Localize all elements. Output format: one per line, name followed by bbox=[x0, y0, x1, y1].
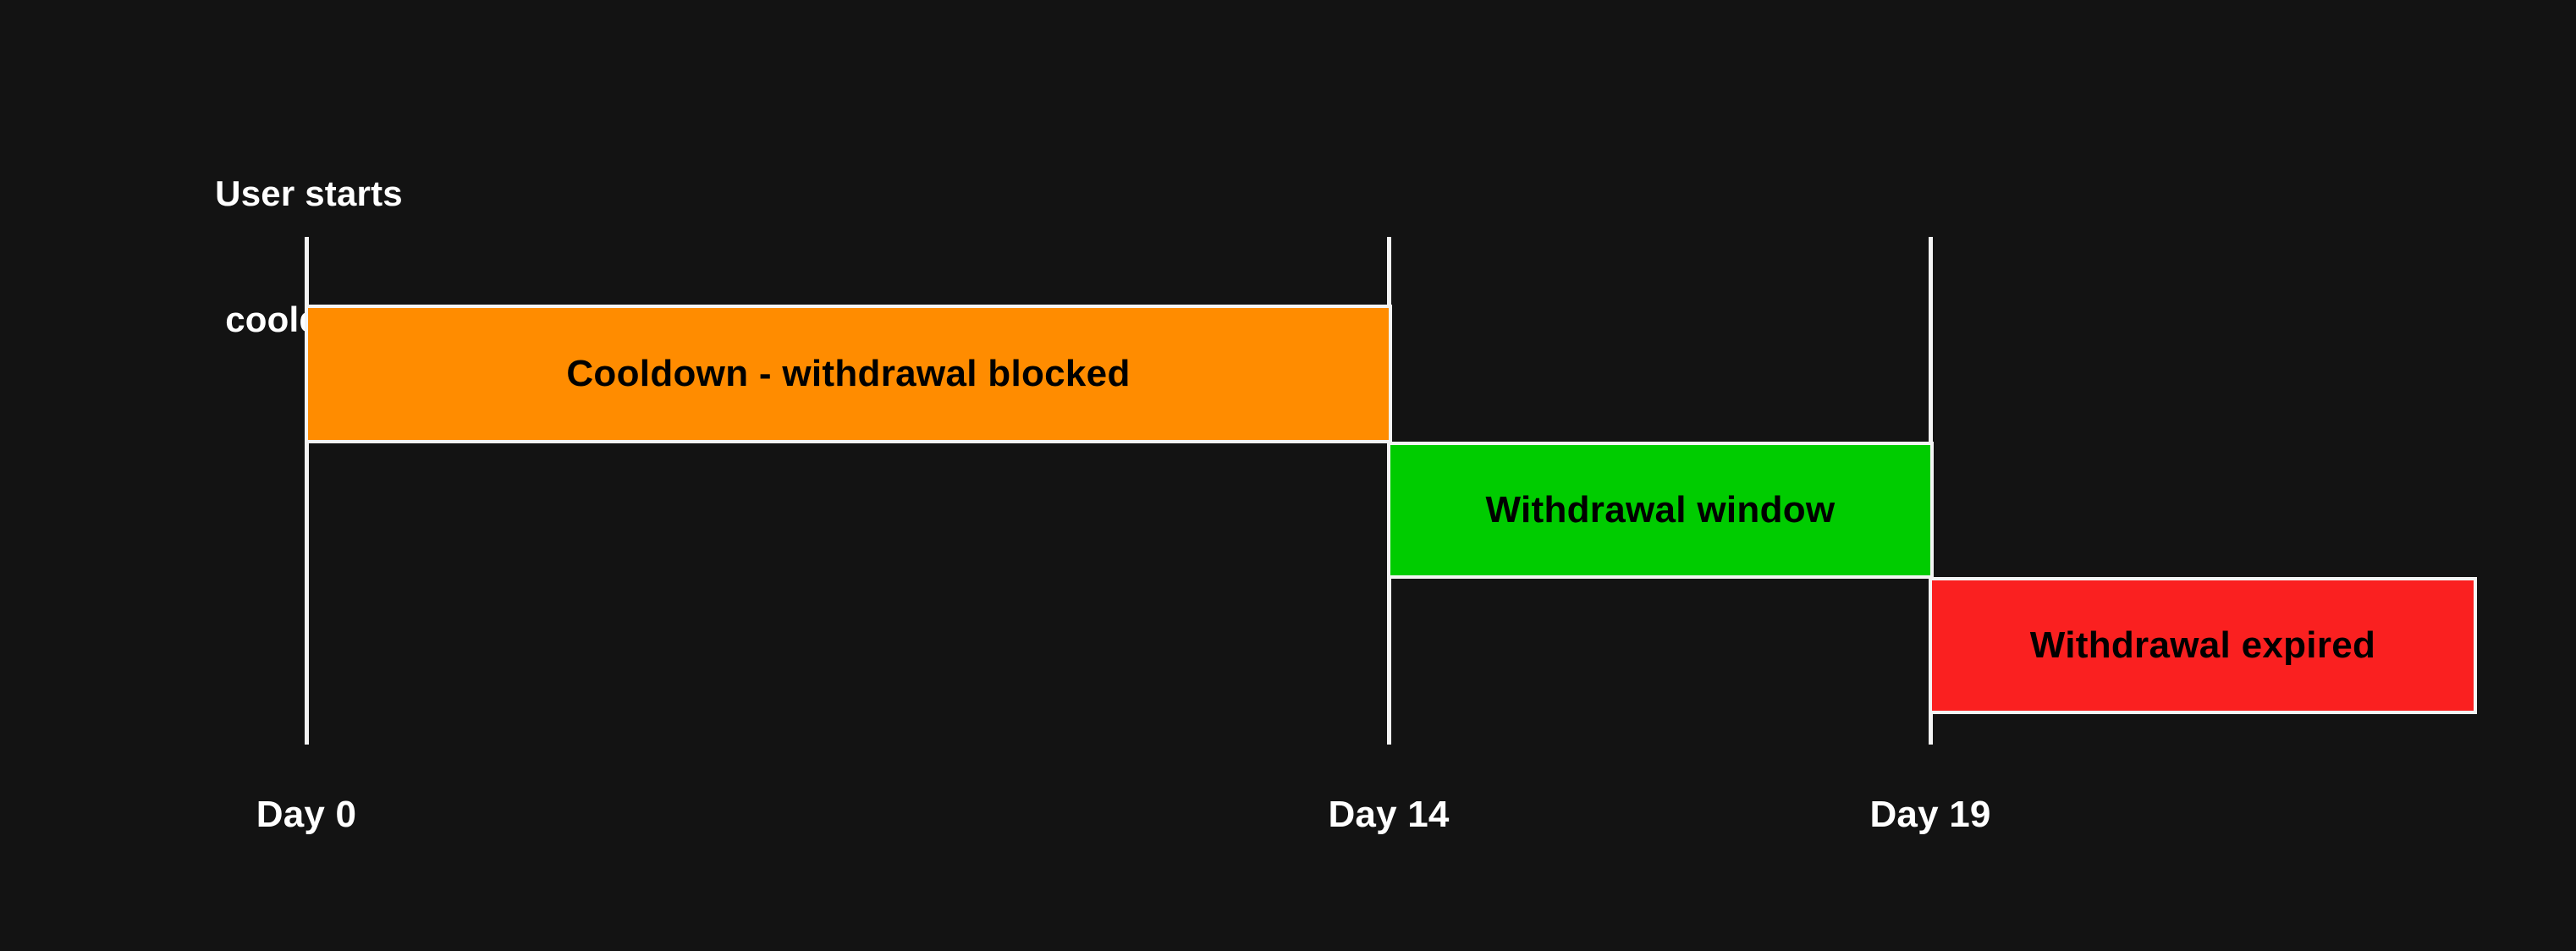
phase-label-withdrawal-expired: Withdrawal expired bbox=[2030, 624, 2375, 667]
day-label-day-0: Day 0 bbox=[256, 794, 356, 836]
day-label-day-19: Day 19 bbox=[1869, 794, 1990, 836]
timeline-diagram: User starts cooldown Cooldown - withdraw… bbox=[0, 0, 2576, 951]
annotation-line-1: User starts bbox=[144, 173, 474, 215]
phase-bar-withdrawal-expired[interactable]: Withdrawal expired bbox=[1929, 577, 2477, 714]
phase-label-withdrawal-window: Withdrawal window bbox=[1486, 489, 1836, 531]
phase-bar-cooldown[interactable]: Cooldown - withdrawal blocked bbox=[305, 305, 1392, 443]
day-label-day-14: Day 14 bbox=[1328, 794, 1449, 836]
phase-label-cooldown: Cooldown - withdrawal blocked bbox=[566, 353, 1130, 395]
phase-bar-withdrawal-window[interactable]: Withdrawal window bbox=[1387, 442, 1934, 579]
